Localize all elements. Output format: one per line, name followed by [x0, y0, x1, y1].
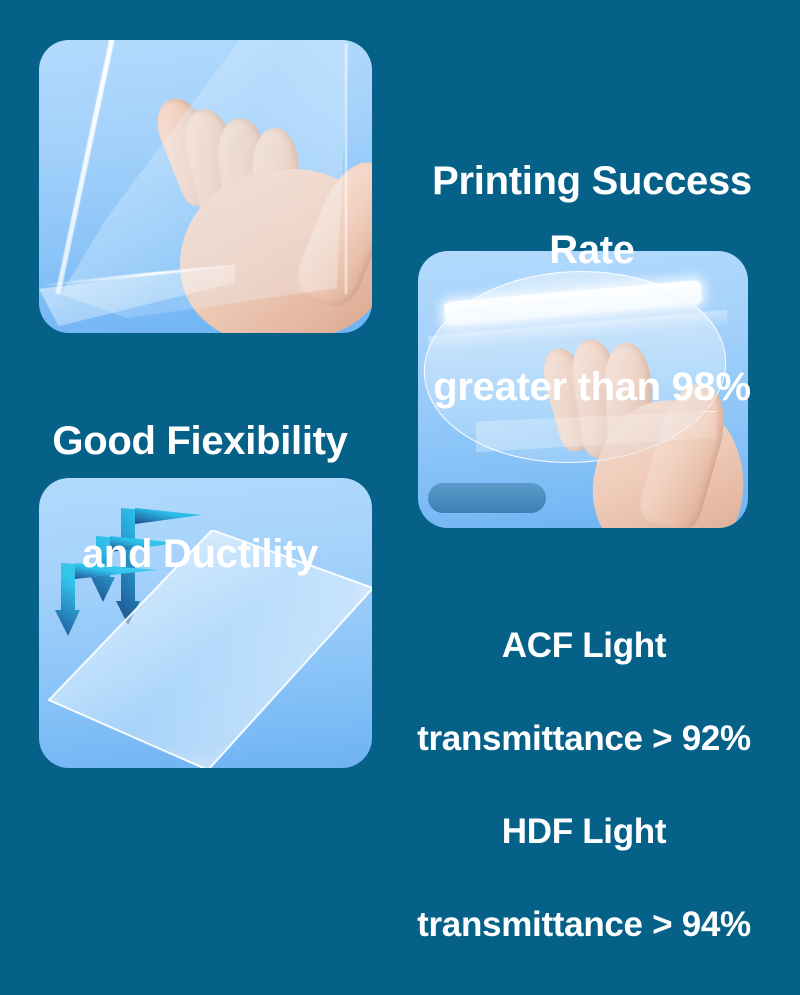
flexibility-caption-text: Good Fiexibility and Ductility	[20, 356, 380, 640]
flexibility-caption-line-2: and Ductility	[20, 526, 380, 583]
flexibility-caption-line-1: Good Fiexibility	[20, 413, 380, 470]
headline-line-1: Printing Success Rate	[386, 147, 798, 285]
transmittance-caption-text: ACF Light transmittance > 92% HDF Light …	[368, 576, 800, 995]
headline-line-2: greater than 98%	[386, 353, 798, 422]
transmittance-caption-line-4: transmittance > 94%	[368, 902, 800, 949]
transmittance-caption-line-3: HDF Light	[368, 809, 800, 856]
flexibility-photo-panel	[39, 40, 372, 333]
infographic-canvas: Printing Success Rate greater than 98% G…	[0, 0, 800, 800]
headline-text: Printing Success Rate greater than 98%	[386, 78, 798, 491]
transparent-film-sheet	[59, 40, 372, 333]
transmittance-caption-line-1: ACF Light	[368, 623, 800, 670]
transmittance-caption-line-2: transmittance > 92%	[368, 716, 800, 763]
